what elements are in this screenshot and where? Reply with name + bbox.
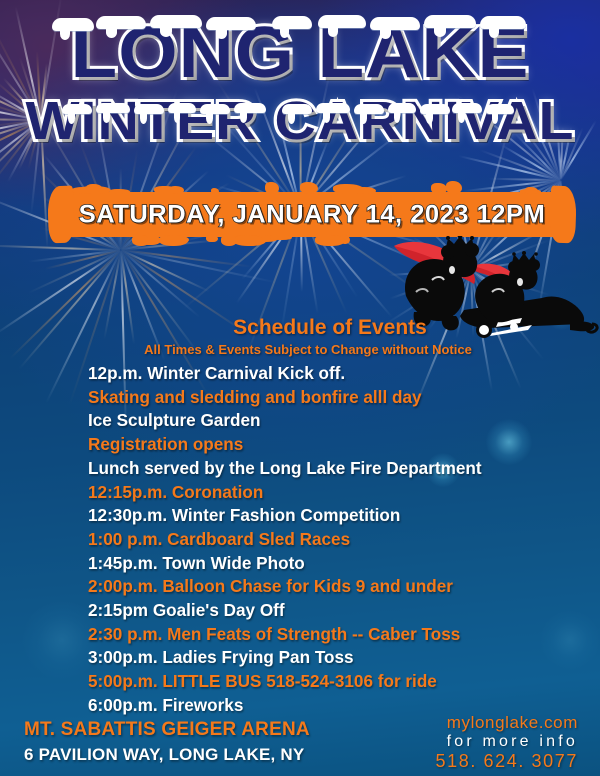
banner-rough-edge [355, 187, 376, 194]
schedule-item: Skating and sledding and bonfire alll da… [88, 386, 549, 410]
schedule-item: 3:00p.m. Ladies Frying Pan Toss [88, 646, 549, 670]
schedule-item: 12:15p.m. Coronation [88, 481, 549, 505]
banner-rough-edge [132, 235, 151, 246]
date-banner-text: SATURDAY, JANUARY 14, 2023 12PM [57, 200, 567, 229]
phone-number[interactable]: 518. 624. 3077 [435, 751, 578, 772]
schedule-item: Ice Sculpture Garden [88, 409, 549, 433]
banner-rough-edge [154, 186, 178, 194]
schedule-item: 2:00p.m. Balloon Chase for Kids 9 and un… [88, 575, 549, 599]
schedule-item: Registration opens [88, 433, 549, 457]
schedule-item: 2:15pm Goalie's Day Off [88, 599, 549, 623]
banner-rough-edge [446, 181, 462, 194]
schedule-list: 12p.m. Winter Carnival Kick off.Skating … [88, 362, 558, 718]
poster-title: LONG LAKE WINTER CARNIVAL [0, 12, 600, 152]
banner-rough-edge [431, 183, 446, 194]
title-line-1: LONG LAKE [0, 12, 600, 94]
website-link[interactable]: mylonglake.com [435, 713, 578, 733]
banner-rough-edge [206, 235, 217, 242]
poster-canvas: LONG LAKE WINTER CARNIVAL SATURDAY, JANU… [0, 0, 600, 776]
schedule-item: 1:45p.m. Town Wide Photo [88, 552, 549, 576]
banner-rough-edge [270, 235, 292, 240]
schedule-heading: Schedule of Events [30, 316, 600, 340]
banner-rough-edge [211, 188, 220, 194]
contact-block: mylonglake.com for more info 518. 624. 3… [435, 713, 578, 772]
schedule-item: 12p.m. Winter Carnival Kick off. [88, 362, 549, 386]
banner-rough-edge [340, 235, 350, 244]
banner-rough-edge [300, 182, 318, 194]
venue-address: 6 PAVILION WAY, LONG LAKE, NY [24, 745, 304, 765]
schedule-item: 5:00p.m. LITTLE BUS 518-524-3106 for rid… [88, 670, 549, 694]
banner-rough-edge [110, 189, 130, 194]
schedule-subheading: All Times & Events Subject to Change wit… [8, 342, 600, 357]
schedule-item: 1:00 p.m. Cardboard Sled Races [88, 528, 549, 552]
title-line-2: WINTER CARNIVAL [0, 90, 600, 152]
date-banner: SATURDAY, JANUARY 14, 2023 12PM [62, 192, 562, 237]
schedule-item: Lunch served by the Long Lake Fire Depar… [88, 457, 549, 481]
venue-name: MT. SABATTIS GEIGER ARENA [24, 719, 310, 741]
banner-rough-edge [80, 186, 111, 194]
schedule-item: 2:30 p.m. Men Feats of Strength -- Caber… [88, 623, 549, 647]
more-info-label: for more info [435, 733, 578, 751]
schedule-item: 12:30p.m. Winter Fashion Competition [88, 504, 549, 528]
banner-rough-edge [235, 235, 265, 245]
banner-rough-edge [265, 182, 279, 194]
